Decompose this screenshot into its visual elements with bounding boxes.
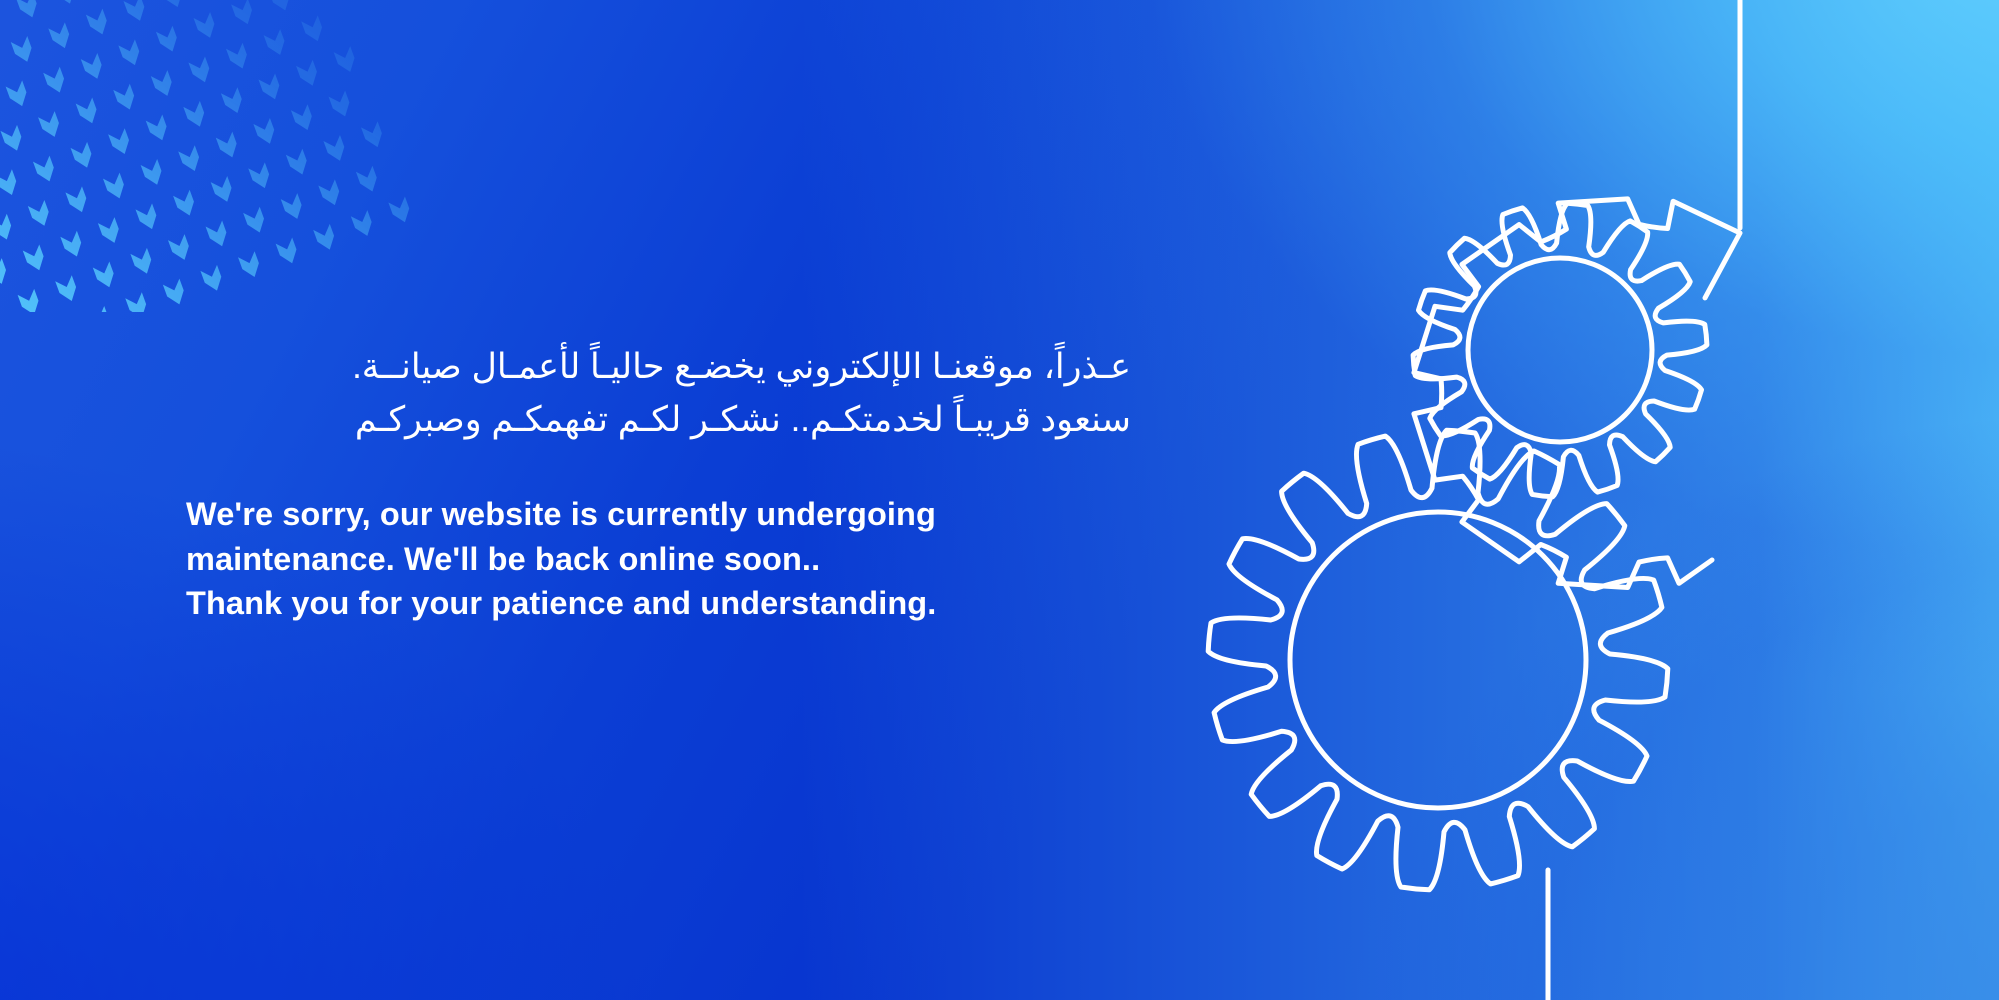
- message-block: عـذراً، موقعنـا الإلكتروني يخضـع حاليـاً…: [186, 340, 1146, 625]
- arabic-line-1: عـذراً، موقعنـا الإلكتروني يخضـع حاليـاً…: [186, 340, 1131, 393]
- arabic-line-2: سنعود قريبـاً لخدمتكـم.. نشكـر لكـم تفهم…: [186, 393, 1131, 446]
- english-line-1: We're sorry, our website is currently un…: [186, 492, 1146, 536]
- maintenance-page: عـذراً، موقعنـا الإلكتروني يخضـع حاليـاً…: [0, 0, 1999, 1000]
- english-message: We're sorry, our website is currently un…: [186, 492, 1146, 625]
- english-line-3: Thank you for your patience and understa…: [186, 581, 1146, 625]
- arabic-message: عـذراً، موقعنـا الإلكتروني يخضـع حاليـاً…: [186, 340, 1131, 446]
- english-line-2: maintenance. We'll be back online soon..: [186, 537, 1146, 581]
